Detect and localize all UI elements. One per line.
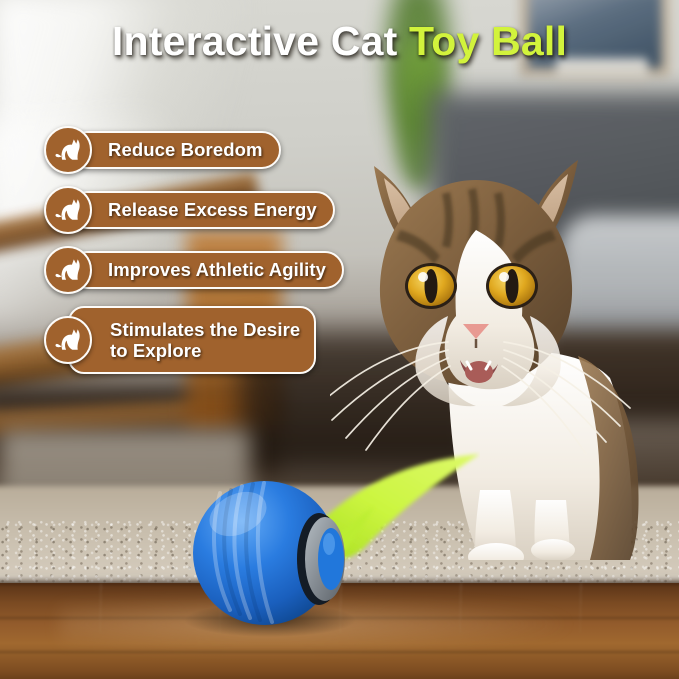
feature-pill[interactable]: Reduce Boredom [68, 131, 281, 169]
feature-label: Release Excess Energy [108, 199, 317, 220]
feature-label: Reduce Boredom [108, 139, 263, 160]
product-toy-ball [150, 440, 480, 640]
feature-pill[interactable]: Stimulates the Desire to Explore [68, 306, 316, 374]
cat-eye-left [405, 263, 457, 309]
cat-silhouette-icon [44, 126, 92, 174]
feature-item-stimulates-desire-to-explore[interactable]: Stimulates the Desire to Explore [44, 306, 384, 374]
feature-item-reduce-boredom[interactable]: Reduce Boredom [44, 126, 384, 174]
feature-label: Improves Athletic Agility [108, 259, 326, 280]
feature-pill[interactable]: Release Excess Energy [68, 191, 335, 229]
feature-item-release-excess-energy[interactable]: Release Excess Energy [44, 186, 384, 234]
cap-highlight [323, 533, 335, 555]
product-marketing-image: Interactive Cat Toy Ball Reduce Boredom … [0, 0, 679, 679]
cat-eye-right [486, 263, 538, 309]
title-primary: Interactive Cat [112, 18, 409, 64]
cat-silhouette-icon [44, 186, 92, 234]
feature-item-improves-athletic-agility[interactable]: Improves Athletic Agility [44, 246, 384, 294]
title-accent: Toy Ball [409, 18, 567, 64]
feature-pill[interactable]: Improves Athletic Agility [68, 251, 344, 289]
cat-silhouette-icon [44, 316, 92, 364]
cat-silhouette-icon [44, 246, 92, 294]
feature-list: Reduce Boredom Release Excess Energy Imp… [44, 126, 384, 386]
feature-label: Stimulates the Desire to Explore [110, 319, 300, 362]
page-title: Interactive Cat Toy Ball [0, 18, 679, 65]
